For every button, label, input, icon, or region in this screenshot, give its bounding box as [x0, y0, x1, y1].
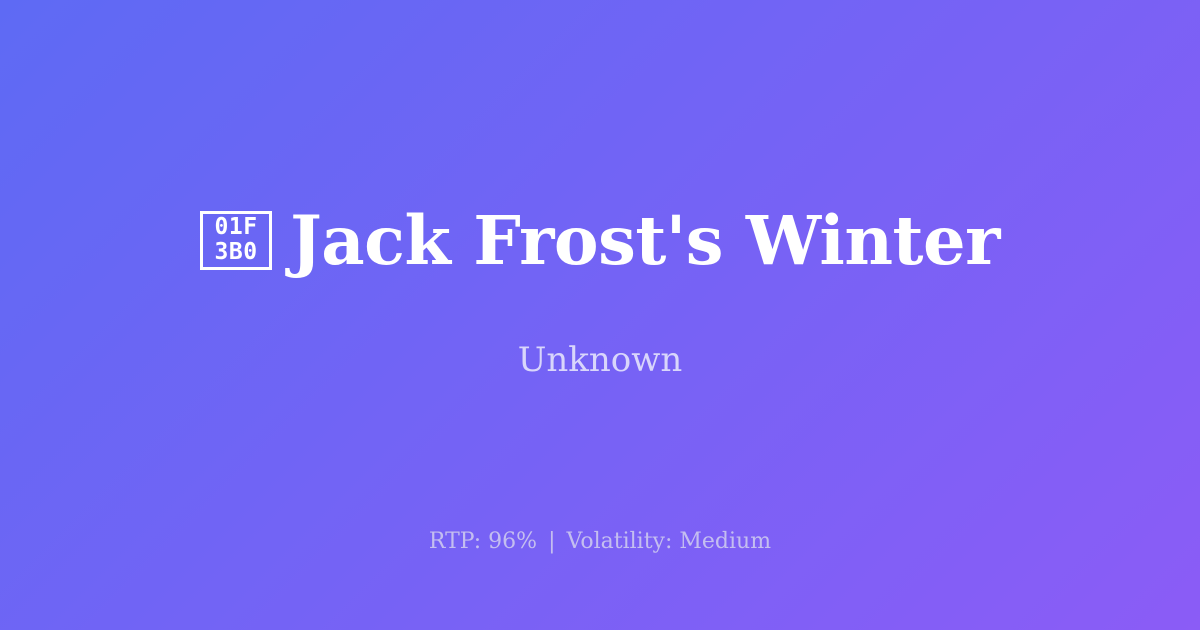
- tofu-codepoint-top: 01F: [215, 215, 258, 240]
- game-provider: Unknown: [518, 340, 683, 381]
- volatility-label: Volatility: Medium: [567, 529, 772, 554]
- tofu-codepoint-bottom: 3B0: [215, 240, 258, 265]
- game-meta-line: RTP: 96% | Volatility: Medium: [0, 528, 1200, 557]
- game-og-card: 01F 3B0 Jack Frost's Winter Unknown RTP:…: [0, 0, 1200, 630]
- hero-block: 01F 3B0 Jack Frost's Winter Unknown: [0, 205, 1200, 381]
- rtp-label: RTP: 96%: [429, 529, 537, 554]
- meta-separator: |: [544, 529, 559, 554]
- game-title: Jack Frost's Winter: [290, 205, 1000, 277]
- title-row: 01F 3B0 Jack Frost's Winter: [0, 205, 1200, 277]
- slot-machine-emoji-icon: 01F 3B0: [200, 211, 272, 270]
